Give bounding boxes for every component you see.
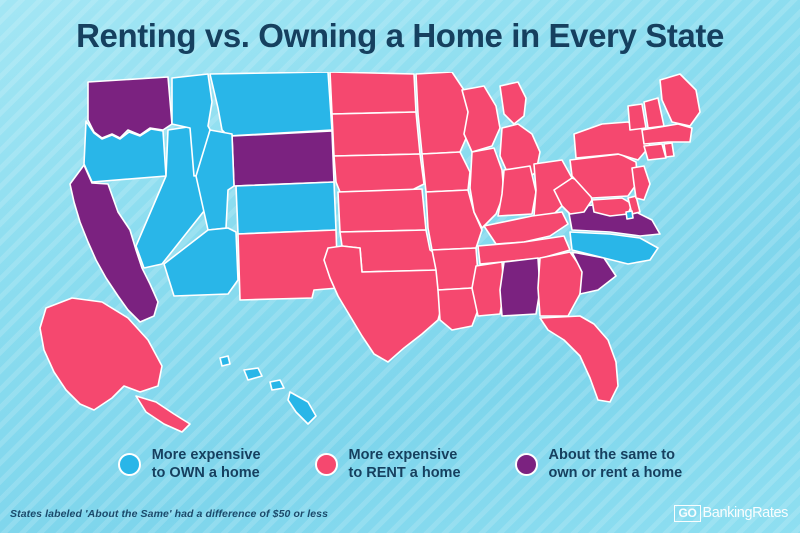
legend-label-rent: More expensive to RENT a home bbox=[349, 447, 461, 482]
us-choropleth-map: WashingtonOregonCaliforniaNevadaIdahoMon… bbox=[32, 72, 772, 437]
legend-label-own: More expensive to OWN a home bbox=[152, 447, 261, 482]
state-dc[interactable]: District of Columbia bbox=[626, 211, 633, 219]
state-sd[interactable]: South Dakota bbox=[332, 112, 420, 156]
legend-swatch-own bbox=[118, 453, 141, 476]
infographic-canvas: Renting vs. Owning a Home in Every State… bbox=[0, 0, 800, 533]
state-al[interactable]: Alabama bbox=[500, 258, 540, 316]
state-wy[interactable]: Wyoming bbox=[232, 131, 334, 186]
state-ak[interactable]: Alaska bbox=[40, 298, 190, 432]
state-mn[interactable]: Minnesota bbox=[416, 72, 472, 154]
state-hi[interactable]: Hawaii bbox=[220, 356, 316, 424]
state-in[interactable]: Indiana bbox=[498, 166, 536, 216]
state-ia[interactable]: Iowa bbox=[422, 152, 470, 192]
logo-wordmark: BankingRates bbox=[703, 505, 788, 521]
legend-swatch-rent bbox=[315, 453, 338, 476]
state-la[interactable]: Louisiana bbox=[438, 288, 478, 330]
state-ar[interactable]: Arkansas bbox=[432, 248, 478, 290]
legend-label-same: About the same to own or rent a home bbox=[549, 447, 683, 482]
us-map-svg: WashingtonOregonCaliforniaNevadaIdahoMon… bbox=[32, 72, 772, 437]
state-nd[interactable]: North Dakota bbox=[330, 72, 416, 114]
logo-mark: GO bbox=[674, 505, 700, 522]
page-title: Renting vs. Owning a Home in Every State bbox=[0, 17, 800, 55]
state-mt[interactable]: Montana bbox=[210, 72, 332, 136]
state-wi[interactable]: Wisconsin bbox=[462, 86, 500, 152]
state-ms[interactable]: Mississippi bbox=[472, 262, 504, 316]
legend-item-same: About the same to own or rent a home bbox=[515, 447, 683, 482]
state-nj[interactable]: New Jersey bbox=[632, 166, 650, 200]
state-ks[interactable]: Kansas bbox=[338, 189, 426, 232]
state-nh[interactable]: New Hampshire bbox=[644, 98, 664, 128]
state-vt[interactable]: Vermont bbox=[628, 104, 646, 130]
footnote: States labeled 'About the Same' had a di… bbox=[10, 508, 328, 520]
state-ct[interactable]: Connecticut bbox=[644, 144, 666, 160]
state-me[interactable]: Maine bbox=[660, 74, 700, 126]
legend-item-own: More expensive to OWN a home bbox=[118, 447, 261, 482]
state-ri[interactable]: Rhode Island bbox=[664, 143, 674, 157]
state-fl[interactable]: Florida bbox=[540, 316, 618, 402]
state-ne[interactable]: Nebraska bbox=[334, 154, 424, 192]
state-nm[interactable]: New Mexico bbox=[238, 230, 338, 300]
legend-item-rent: More expensive to RENT a home bbox=[315, 447, 461, 482]
state-wa[interactable]: Washington bbox=[88, 77, 172, 138]
legend-swatch-same bbox=[515, 453, 538, 476]
legend: More expensive to OWN a home More expens… bbox=[0, 447, 800, 482]
gobankingrates-logo: GO BankingRates bbox=[674, 505, 788, 522]
state-co[interactable]: Colorado bbox=[236, 182, 336, 234]
